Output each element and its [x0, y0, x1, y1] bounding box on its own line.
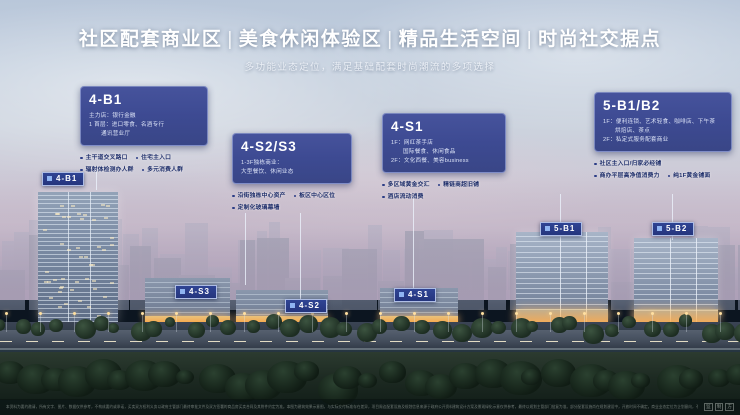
street-light	[720, 314, 721, 332]
card-code: 5-B1/B2	[603, 98, 723, 114]
card-tag: 多元消费人群	[142, 165, 184, 176]
facade-floor-line	[634, 299, 718, 300]
tree	[605, 324, 619, 337]
bullet-dot-icon	[594, 163, 597, 166]
street-light	[448, 314, 449, 332]
window-light	[110, 244, 114, 246]
watermark-glyph: 监	[704, 403, 713, 412]
card-tag-label: 精链商超旧铺	[443, 180, 479, 191]
facade-floor-line	[516, 293, 608, 294]
card-description-line: 主力店：银行金融	[89, 112, 199, 121]
card-tag-label: 住宅主入口	[141, 153, 171, 164]
headline-part: 精品生活空间	[399, 29, 522, 50]
curb	[0, 348, 740, 350]
facade-floor-line	[516, 304, 608, 305]
street-light	[550, 314, 551, 332]
card-description-line: 通讯营业厅	[89, 130, 199, 139]
facade-floor-line	[634, 252, 718, 253]
card-tag: 板区中心区位	[294, 191, 336, 202]
street-light	[414, 314, 415, 332]
card-description-line: 2F：文化西餐、美容business	[391, 157, 497, 166]
card-tag-label: 定制化玻璃幕墙	[238, 203, 280, 214]
facade-floor-line	[145, 282, 230, 283]
tree	[521, 369, 541, 385]
bullet-dot-icon	[136, 157, 139, 160]
page-title: 社区配套商业区|美食休闲体验区|精品生活空间|时尚社交据点	[0, 24, 740, 51]
legal-text-left: 本资料为要约邀请，所有文字、图片、数据仅供参考，不构成要约或承诺，买卖双方权利义…	[6, 404, 452, 410]
window-light	[67, 216, 71, 218]
tree	[108, 323, 119, 333]
card-description-line: 1F：网红茶手店	[391, 139, 497, 148]
tower-floor-line	[38, 262, 118, 263]
callout-card-4-b1[interactable]: 4-B1 主力店：银行金融1 首层：进口零食、名酒专行通讯营业厅 主干道交叉路口…	[80, 86, 208, 176]
tree	[299, 315, 318, 333]
facade-floor-line	[516, 298, 608, 299]
chip-label: 5-B2	[666, 224, 687, 233]
card-header: 4-B1 主力店：银行金融1 首层：进口零食、名酒专行通讯营业厅	[80, 86, 208, 146]
tower-floor-line	[38, 199, 118, 200]
chip-label: 5-B1	[554, 224, 575, 233]
card-description-line: 国际餐食、休闲食品	[391, 148, 497, 157]
leader-line-4-s1	[413, 196, 414, 292]
window-light	[49, 297, 53, 299]
facade-floor-line	[516, 267, 608, 268]
bullet-dot-icon	[382, 184, 385, 187]
headline-separator: |	[382, 29, 398, 50]
street-light	[74, 314, 75, 332]
card-description-line: 烘焙店、茶点	[603, 127, 723, 136]
street-light	[244, 314, 245, 332]
window-light	[84, 256, 88, 258]
chip-marker-icon	[657, 226, 662, 231]
facade-floor-line	[516, 246, 608, 247]
card-description-line: 2F：私定式服务配套商业	[603, 136, 723, 145]
legal-disclaimer-bar: 本资料为要约邀请，所有文字、图片、数据仅供参考，不构成要约或承诺，买卖双方权利义…	[0, 399, 740, 415]
chip-label: 4-B1	[56, 174, 77, 183]
street-light	[278, 314, 279, 332]
headline-part: 美食休闲体验区	[239, 29, 383, 50]
window-light	[80, 218, 84, 220]
card-description: 1-3F独栋商业：大型餐饮、休闲业态	[241, 159, 343, 177]
street-light	[176, 314, 177, 332]
window-light	[53, 279, 57, 281]
facade-floor-line	[516, 236, 608, 237]
bullet-dot-icon	[382, 196, 385, 199]
card-tag: 住宅主入口	[136, 153, 172, 164]
card-description: 1F：网红茶手店国际餐食、休闲食品2F：文化西餐、美容business	[391, 139, 497, 166]
window-light	[64, 303, 68, 305]
street-light	[482, 314, 483, 332]
legal-text-right: 建筑设计方案及景观绿化示意仅供参考，最终以规划主管部门批复为准。部分配套设施尚在…	[452, 404, 698, 410]
window-light	[43, 229, 47, 231]
card-tag: 主干道交叉路口	[80, 153, 128, 164]
bullet-dot-icon	[294, 195, 297, 198]
chip-marker-icon	[290, 303, 295, 308]
card-tag-label: 板区中心区位	[299, 191, 335, 202]
tree	[414, 320, 429, 335]
chip-label: 4-S1	[408, 290, 429, 299]
card-code: 4-S2/S3	[241, 139, 343, 155]
tower-floor-line	[38, 224, 118, 225]
card-tag-list: 社区主入口/归家必经铺商办平层高净值消费力纯1F黄金铺面	[594, 159, 732, 182]
window-light	[62, 216, 66, 218]
bullet-dot-icon	[594, 175, 597, 178]
facade-floor-line	[145, 312, 230, 313]
leader-line-4-s3	[245, 213, 246, 285]
tower-floor-line	[38, 220, 118, 221]
tower-floor-line	[38, 250, 118, 251]
headline-part: 社区配套商业区	[79, 29, 223, 50]
facade-floor-line	[634, 242, 718, 243]
window-light	[83, 214, 87, 216]
bullet-dot-icon	[438, 184, 441, 187]
window-light	[61, 278, 65, 280]
card-tag: 精链商超旧铺	[438, 180, 480, 191]
facade-floor-line	[634, 304, 718, 305]
card-description: 主力店：银行金融1 首层：进口零食、名酒专行通讯营业厅	[89, 112, 199, 139]
window-light	[101, 204, 105, 206]
chip-marker-icon	[47, 176, 52, 181]
card-code: 4-S1	[391, 119, 497, 135]
window-light	[60, 205, 64, 207]
facade-floor-line	[516, 288, 608, 289]
headline-part: 时尚社交据点	[538, 29, 661, 50]
callout-card-4-s2-s3[interactable]: 4-S2/S3 1-3F独栋商业：大型餐饮、休闲业态 沿街独栋中心资产板区中心区…	[232, 133, 352, 214]
card-tag: 定制化玻璃幕墙	[232, 203, 280, 214]
street-light	[312, 314, 313, 332]
facade-floor-line	[634, 268, 718, 269]
facade-floor-line	[634, 247, 718, 248]
tower-floor-line	[38, 279, 118, 280]
tower-floor-line	[38, 271, 118, 272]
tower-floor-line	[38, 313, 118, 314]
chip-marker-icon	[399, 292, 404, 297]
card-tag: 酒店流动消费	[382, 192, 424, 203]
facade-floor-line	[516, 278, 608, 279]
window-light	[97, 246, 101, 248]
building-chip-4-s2[interactable]: 4-S2	[285, 299, 327, 313]
tree	[0, 319, 5, 331]
tower-floor-line	[38, 266, 118, 267]
tree	[452, 324, 472, 343]
rendering-scene: 4-B1 4-S3 4-S2 4-S1 5-B1 5-B2 社区配套商业区|美食…	[0, 0, 740, 415]
card-code: 4-B1	[89, 92, 199, 108]
building-chip-5-b2[interactable]: 5-B2	[652, 222, 694, 236]
card-description-line: 大型餐饮、休闲业态	[241, 168, 343, 177]
tree	[280, 319, 299, 337]
window-light	[47, 281, 51, 283]
card-tag-list: 主干道交叉路口住宅主入口辐射体检测办人群多元消费人群	[80, 153, 208, 176]
card-description-line: 1-3F独栋商业：	[241, 159, 343, 168]
window-light	[70, 289, 74, 291]
tower-floor-line	[38, 292, 118, 293]
card-tag-label: 沿街独栋中心资产	[238, 191, 286, 202]
facade-floor-line	[516, 283, 608, 284]
facade-floor-line	[380, 302, 458, 303]
chip-label: 4-S2	[299, 301, 320, 310]
bullet-dot-icon	[668, 175, 671, 178]
callout-card-4-s1[interactable]: 4-S1 1F：网红茶手店国际餐食、休闲食品2F：文化西餐、美容business…	[382, 113, 506, 203]
tree	[16, 319, 32, 334]
card-tag: 多区域黄金交汇	[382, 180, 430, 191]
watermark-glyph: 方	[725, 403, 734, 412]
building-chip-4-s1[interactable]: 4-S1	[394, 288, 436, 302]
facade-floor-line	[380, 307, 458, 308]
tree	[358, 373, 377, 388]
tree	[266, 314, 282, 329]
window-light	[110, 282, 114, 284]
card-tag: 沿街独栋中心资产	[232, 191, 286, 202]
tower-floor-line	[38, 254, 118, 255]
facade-floor-line	[516, 262, 608, 263]
street-light	[210, 314, 211, 332]
window-light	[85, 278, 89, 280]
facade-floor-line	[145, 302, 230, 303]
card-tag: 商办平层高净值消费力	[594, 171, 660, 182]
tower-floor-line	[38, 287, 118, 288]
tree	[583, 324, 604, 344]
tower-floor-line	[38, 304, 118, 305]
tree	[491, 321, 506, 335]
card-tag-label: 多元消费人群	[147, 165, 183, 176]
tower-floor-line	[38, 208, 118, 209]
tree	[379, 361, 406, 383]
card-tag-label: 辐射体检测办人群	[86, 165, 134, 176]
window-light	[92, 219, 96, 221]
tree	[145, 321, 162, 337]
bullet-dot-icon	[232, 207, 235, 210]
bullet-dot-icon	[80, 169, 83, 172]
window-light	[67, 249, 71, 251]
window-light	[110, 237, 114, 239]
tree	[336, 322, 351, 337]
card-tag-list: 多区域黄金交汇精链商超旧铺酒店流动消费	[382, 180, 506, 203]
street-light	[108, 314, 109, 332]
tower-floor-line	[38, 241, 118, 242]
window-light	[77, 213, 81, 215]
tower-floor-line	[38, 233, 118, 234]
card-tag-label: 商办平层高净值消费力	[600, 171, 660, 182]
headline-separator: |	[522, 29, 538, 50]
retail-glow-5-b2	[634, 309, 718, 323]
street-light	[6, 314, 7, 332]
window-light	[60, 243, 64, 245]
window-light	[78, 300, 82, 302]
tower-4-b1	[38, 192, 118, 322]
tree	[31, 322, 45, 335]
facade-floor-line	[516, 241, 608, 242]
facade-floor-line	[236, 294, 328, 295]
watermark: 监制方	[704, 403, 734, 412]
card-tag-label: 多区域黄金交汇	[388, 180, 430, 191]
tree	[679, 369, 703, 389]
window-light	[45, 271, 49, 273]
headline-separator: |	[222, 29, 238, 50]
window-light	[58, 306, 62, 308]
window-light	[58, 291, 62, 293]
bullet-dot-icon	[232, 195, 235, 198]
bullet-dot-icon	[80, 157, 83, 160]
facade-floor-line	[634, 289, 718, 290]
street-light	[686, 314, 687, 332]
chip-label: 4-S3	[189, 287, 210, 296]
page-subtitle: 多功能业态定位，满足基础配套时尚潮流的多项选择	[0, 59, 740, 73]
facade-floor-line	[634, 284, 718, 285]
tower-floor-line	[38, 237, 118, 238]
tree	[294, 361, 319, 381]
facade-floor-line	[634, 273, 718, 274]
tree	[715, 322, 735, 341]
street-light	[516, 314, 517, 332]
watermark-glyph: 制	[715, 403, 724, 412]
tower-floor-line	[38, 308, 118, 309]
facade-floor-line	[634, 258, 718, 259]
card-tag-label: 酒店流动消费	[388, 192, 424, 203]
card-tag-label: 社区主入口/归家必经铺	[600, 159, 662, 170]
card-header: 5-B1/B2 1F：便利连锁、艺术轻食、咖啡店、下午茶烘焙店、茶点2F：私定式…	[594, 92, 732, 152]
building-chip-4-b1[interactable]: 4-B1	[42, 172, 84, 186]
tree	[247, 320, 260, 332]
tower-floor-line	[38, 275, 118, 276]
facade-floor-line	[236, 314, 328, 315]
tower-floor-line	[38, 195, 118, 196]
facade-floor-line	[145, 307, 230, 308]
tree	[631, 373, 650, 388]
tree	[622, 316, 635, 329]
window-light	[104, 217, 108, 219]
window-light	[79, 256, 83, 258]
street-light	[380, 314, 381, 332]
window-light	[87, 306, 91, 308]
building-chip-4-s3[interactable]: 4-S3	[175, 285, 217, 299]
window-light	[55, 213, 59, 215]
street-light	[142, 314, 143, 332]
tree	[526, 321, 538, 332]
leader-line-4-s2	[300, 213, 301, 299]
facade-floor-line	[516, 272, 608, 273]
window-light	[76, 247, 80, 249]
card-header: 4-S1 1F：网红茶手店国际餐食、休闲食品2F：文化西餐、美容business	[382, 113, 506, 173]
card-header: 4-S2/S3 1-3F独栋商业：大型餐饮、休闲业态	[232, 133, 352, 184]
window-light	[106, 205, 110, 207]
window-light	[75, 281, 79, 283]
tower-floor-line	[38, 283, 118, 284]
window-light	[93, 288, 97, 290]
card-tag-label: 纯1F黄金铺面	[673, 171, 710, 182]
card-tag: 辐射体检测办人群	[80, 165, 134, 176]
tree	[206, 315, 219, 327]
leader-line-5-b1	[560, 194, 561, 222]
tree	[393, 316, 409, 331]
card-tag: 纯1F黄金铺面	[668, 171, 711, 182]
window-light	[92, 280, 96, 282]
tree	[562, 316, 577, 330]
facade-floor-line	[516, 257, 608, 258]
card-description: 1F：便利连锁、艺术轻食、咖啡店、下午茶烘焙店、茶点2F：私定式服务配套商业	[603, 118, 723, 145]
facade-floor-line	[634, 263, 718, 264]
street-light	[584, 314, 585, 332]
window-light	[103, 296, 107, 298]
street-light	[618, 314, 619, 332]
building-chip-5-b1[interactable]: 5-B1	[540, 222, 582, 236]
tree	[49, 319, 63, 332]
card-tag-list: 沿街独栋中心资产板区中心区位定制化玻璃幕墙	[232, 191, 352, 214]
chip-marker-icon	[180, 289, 185, 294]
chip-marker-icon	[545, 226, 550, 231]
callout-card-5-b1-b2[interactable]: 5-B1/B2 1F：便利连锁、艺术轻食、咖啡店、下午茶烘焙店、茶点2F：私定式…	[594, 92, 732, 182]
card-description-line: 1 首层：进口零食、名酒专行	[89, 121, 199, 130]
facade-floor-line	[634, 294, 718, 295]
bullet-dot-icon	[142, 169, 145, 172]
card-tag-label: 主干道交叉路口	[86, 153, 128, 164]
window-light	[91, 264, 95, 266]
card-tag: 社区主入口/归家必经铺	[594, 159, 661, 170]
tree	[165, 317, 175, 327]
window-light	[60, 286, 64, 288]
street-light	[346, 314, 347, 332]
street-light	[40, 314, 41, 332]
tree	[188, 322, 205, 338]
tower-floor-line	[38, 229, 118, 230]
street-light	[652, 314, 653, 332]
window-light	[102, 249, 106, 251]
window-light	[71, 205, 75, 207]
facade-floor-line	[516, 252, 608, 253]
card-description-line: 1F：便利连锁、艺术轻食、咖啡店、下午茶	[603, 118, 723, 127]
facade-floor-line	[634, 278, 718, 279]
